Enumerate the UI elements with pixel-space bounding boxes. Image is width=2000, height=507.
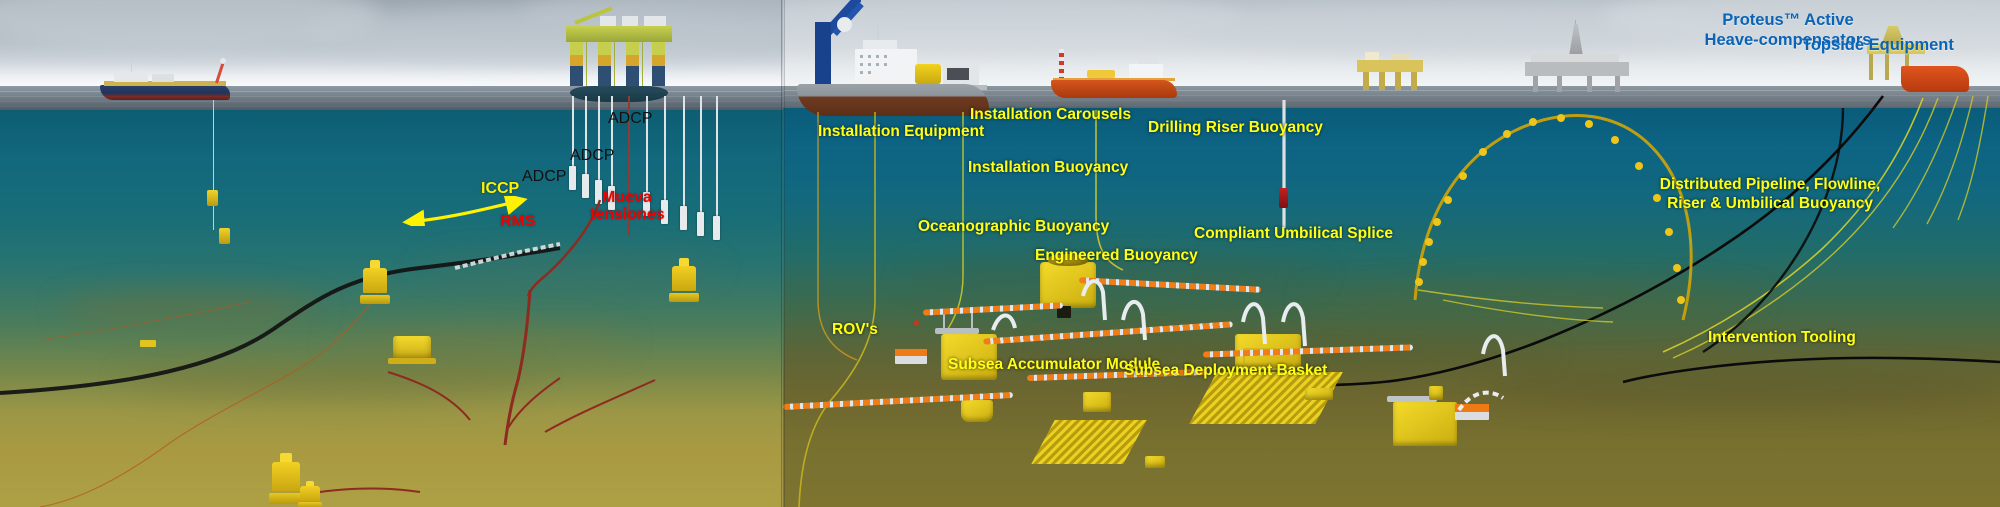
label-subsea-deployment-basket: Subsea Deployment Basket	[1124, 361, 1327, 380]
label-installation-buoyancy: Installation Buoyancy	[968, 158, 1128, 177]
mueva-tensiones-arrow-icon	[398, 196, 532, 226]
right-panel-subsea-product-overview: Proteus™ Active Heave-compensators Topsi…	[783, 0, 2000, 507]
left-panel-subsea-monitoring: ADCP ADCP ADCP ICCP RMS Mueva tensiones	[0, 0, 783, 507]
label-mueva: Mueva	[602, 189, 652, 207]
subsea-tree	[272, 462, 300, 504]
label-proteus-line1: Proteus™ Active	[1705, 10, 1872, 30]
label-engineered-buoyancy: Engineered Buoyancy	[1035, 246, 1198, 265]
label-adcp-3: ADCP	[522, 168, 566, 186]
label-topside-equipment-text: Topside Equipment	[1802, 36, 1954, 54]
label-tensiones: tensiones	[590, 206, 665, 224]
label-distributed-buoyancy-line1: Distributed Pipeline, Flowline,	[1660, 175, 1880, 194]
label-intervention-tooling: Intervention Tooling	[1708, 328, 1856, 347]
label-compliant-umbilical-splice: Compliant Umbilical Splice	[1194, 224, 1393, 243]
label-distributed-buoyancy-line2: Riser & Umbilical Buoyancy	[1660, 194, 1880, 213]
panel-divider	[781, 0, 785, 507]
label-topside-equipment: Topside Equipment	[1802, 35, 1954, 55]
label-installation-carousels: Installation Carousels	[970, 105, 1131, 124]
label-drilling-riser-buoyancy: Drilling Riser Buoyancy	[1148, 118, 1323, 137]
label-oceanographic-buoyancy: Oceanographic Buoyancy	[918, 217, 1109, 236]
label-adcp-1: ADCP	[608, 110, 652, 128]
screenshot-stage: ADCP ADCP ADCP ICCP RMS Mueva tensiones	[0, 0, 2000, 507]
label-rovs: ROV's	[832, 320, 878, 339]
seabed-pipelines	[0, 0, 783, 507]
label-adcp-2: ADCP	[570, 147, 614, 165]
manifold-base	[388, 358, 436, 364]
label-distributed-buoyancy: Distributed Pipeline, Flowline, Riser & …	[1660, 175, 1880, 214]
subsea-tree	[672, 266, 696, 302]
jumper-spools	[783, 0, 2000, 507]
subsea-tree	[363, 268, 387, 304]
label-installation-equipment: Installation Equipment	[818, 122, 984, 141]
subsea-tree	[300, 486, 320, 507]
rov	[140, 340, 156, 347]
